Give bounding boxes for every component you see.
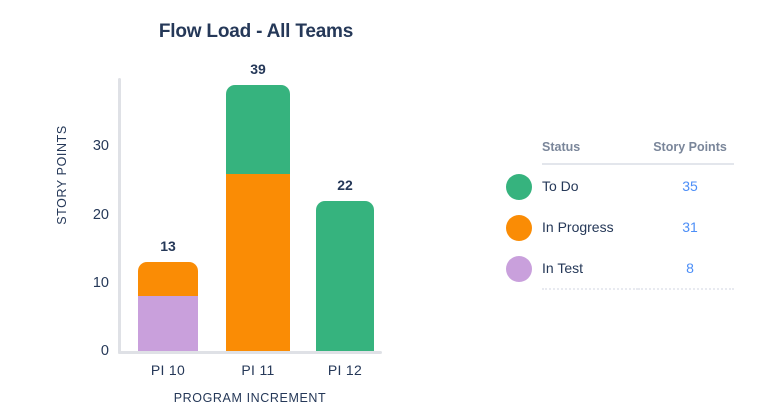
legend-color-dot-to-do xyxy=(506,174,532,200)
y-axis-title: STORY POINTS xyxy=(55,125,69,225)
bar-stack-pi-11[interactable] xyxy=(226,85,290,351)
y-axis-tick-0: 0 xyxy=(69,343,109,359)
y-axis-tick-20: 20 xyxy=(69,207,109,223)
legend-status-cell-in-progress: In Progress xyxy=(542,206,638,247)
bar-total-label-pi-12: 22 xyxy=(337,177,353,193)
bar-group-pi-11[interactable]: 39 PI 11 xyxy=(226,85,290,351)
y-axis-tick-30: 30 xyxy=(69,138,109,154)
legend-status-label-to-do: To Do xyxy=(542,178,579,194)
bar-segment-in-progress[interactable] xyxy=(138,262,198,296)
legend-row-in-test[interactable]: In Test 8 xyxy=(542,247,734,289)
legend-grid: Status Story Points To Do 35 In Progress… xyxy=(542,140,734,290)
legend-status-label-in-test: In Test xyxy=(542,260,583,276)
legend-points-to-do: 35 xyxy=(638,164,734,206)
bar-group-pi-10[interactable]: 13 PI 10 xyxy=(138,262,198,351)
legend-header-status: Status xyxy=(542,140,638,164)
legend-header-story-points: Story Points xyxy=(638,140,734,164)
x-axis-label-pi-10: PI 10 xyxy=(151,362,185,378)
legend-color-dot-in-progress xyxy=(506,215,532,241)
bar-group-pi-12[interactable]: 22 PI 12 xyxy=(316,201,374,351)
legend-table: Status Story Points To Do 35 In Progress… xyxy=(506,140,736,290)
legend-status-cell-in-test: In Test xyxy=(542,247,638,289)
bar-segment-to-do[interactable] xyxy=(226,85,290,174)
bar-segment-to-do[interactable] xyxy=(316,201,374,351)
legend-points-in-test: 8 xyxy=(638,247,734,289)
chart-title: Flow Load - All Teams xyxy=(0,21,512,43)
bar-stack-pi-12[interactable] xyxy=(316,201,374,351)
bar-stack-pi-10[interactable] xyxy=(138,262,198,351)
x-axis-line xyxy=(118,351,382,354)
y-axis-tick-10: 10 xyxy=(69,275,109,291)
bar-segment-in-test[interactable] xyxy=(138,296,198,351)
bar-segment-in-progress[interactable] xyxy=(226,174,290,352)
bar-total-label-pi-10: 13 xyxy=(160,238,176,254)
x-axis-label-pi-12: PI 12 xyxy=(328,362,362,378)
legend-color-dot-in-test xyxy=(506,256,532,282)
legend-row-to-do[interactable]: To Do 35 xyxy=(542,164,734,206)
legend-status-label-in-progress: In Progress xyxy=(542,219,614,235)
plot-area: 30 20 10 0 13 PI 10 39 PI 11 22 PI 12 xyxy=(118,78,380,354)
x-axis-label-pi-11: PI 11 xyxy=(241,362,274,378)
y-axis-line xyxy=(118,78,121,354)
bar-total-label-pi-11: 39 xyxy=(250,61,266,77)
x-axis-title: PROGRAM INCREMENT xyxy=(118,391,382,405)
legend-header-row: Status Story Points xyxy=(542,140,734,164)
legend-points-in-progress: 31 xyxy=(638,206,734,247)
legend-row-in-progress[interactable]: In Progress 31 xyxy=(542,206,734,247)
legend-status-cell-to-do: To Do xyxy=(542,164,638,206)
